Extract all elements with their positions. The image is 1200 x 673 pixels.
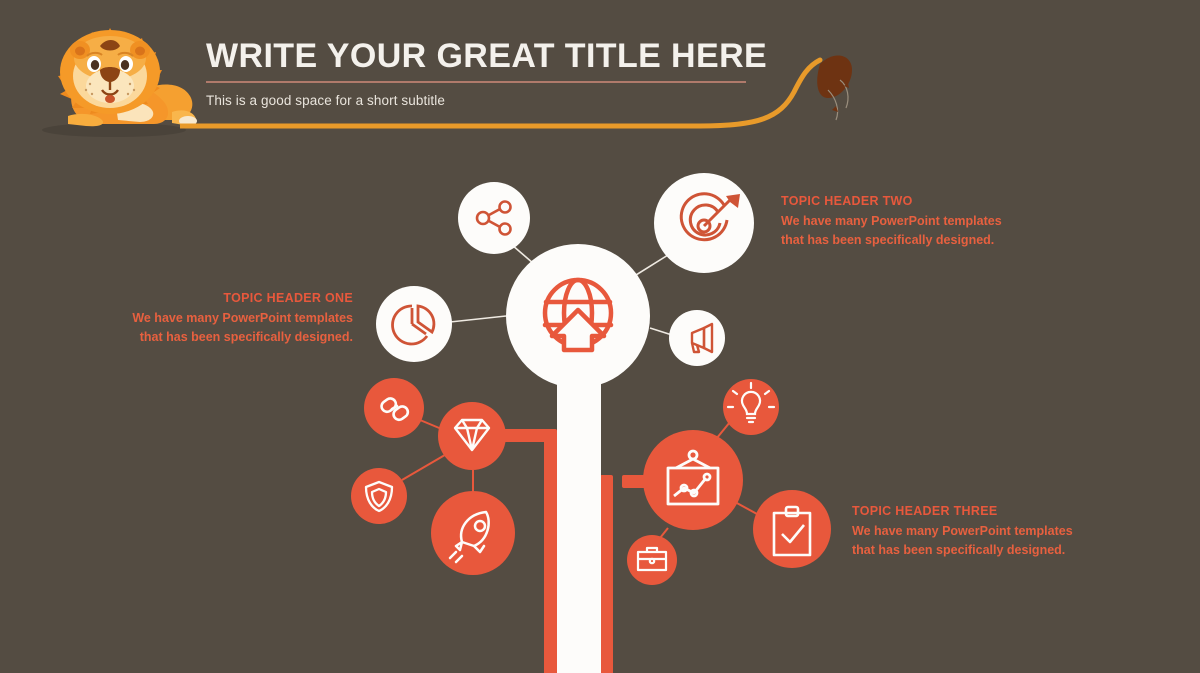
node-chain-link[interactable] bbox=[364, 378, 424, 438]
node-rocket[interactable] bbox=[431, 491, 515, 575]
node-shield[interactable] bbox=[351, 468, 407, 524]
node-target-dart[interactable] bbox=[654, 173, 754, 273]
node-diamond[interactable] bbox=[438, 402, 506, 470]
lion-mascot bbox=[22, 20, 202, 138]
page-title: WRITE YOUR GREAT TITLE HERE bbox=[206, 36, 766, 76]
node-clipboard-check[interactable] bbox=[753, 490, 831, 568]
node-pie-chart[interactable] bbox=[376, 286, 452, 362]
node-share-network[interactable] bbox=[458, 182, 530, 254]
node-megaphone[interactable] bbox=[669, 310, 725, 366]
page-subtitle: This is a good space for a short subtitl… bbox=[206, 93, 766, 108]
node-briefcase[interactable] bbox=[627, 535, 677, 585]
center-node-globe[interactable] bbox=[506, 244, 650, 388]
node-lightbulb[interactable] bbox=[723, 379, 779, 435]
title-block: WRITE YOUR GREAT TITLE HERE This is a go… bbox=[206, 36, 766, 108]
title-underline bbox=[206, 81, 746, 83]
node-chart-board[interactable] bbox=[643, 430, 743, 530]
infographic-diagram bbox=[0, 150, 1200, 673]
slide-canvas: WRITE YOUR GREAT TITLE HERE This is a go… bbox=[0, 0, 1200, 673]
